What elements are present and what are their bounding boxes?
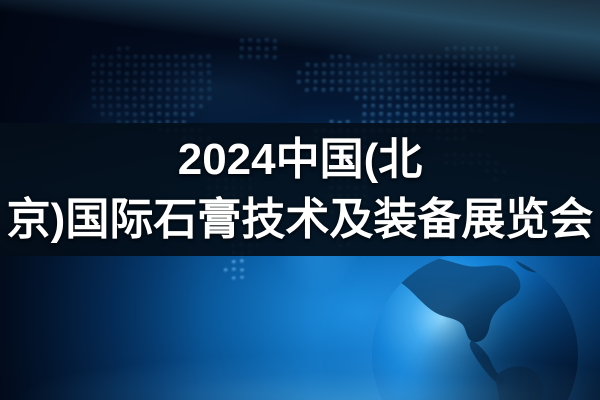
title-line-1: 2024中国(北: [178, 132, 423, 188]
event-banner: 2024中国(北 京)国际石膏技术及装备展览会: [0, 0, 600, 400]
banner-title: 2024中国(北 京)国际石膏技术及装备展览会: [0, 123, 600, 256]
title-line-2: 京)国际石膏技术及装备展览会: [7, 192, 594, 248]
